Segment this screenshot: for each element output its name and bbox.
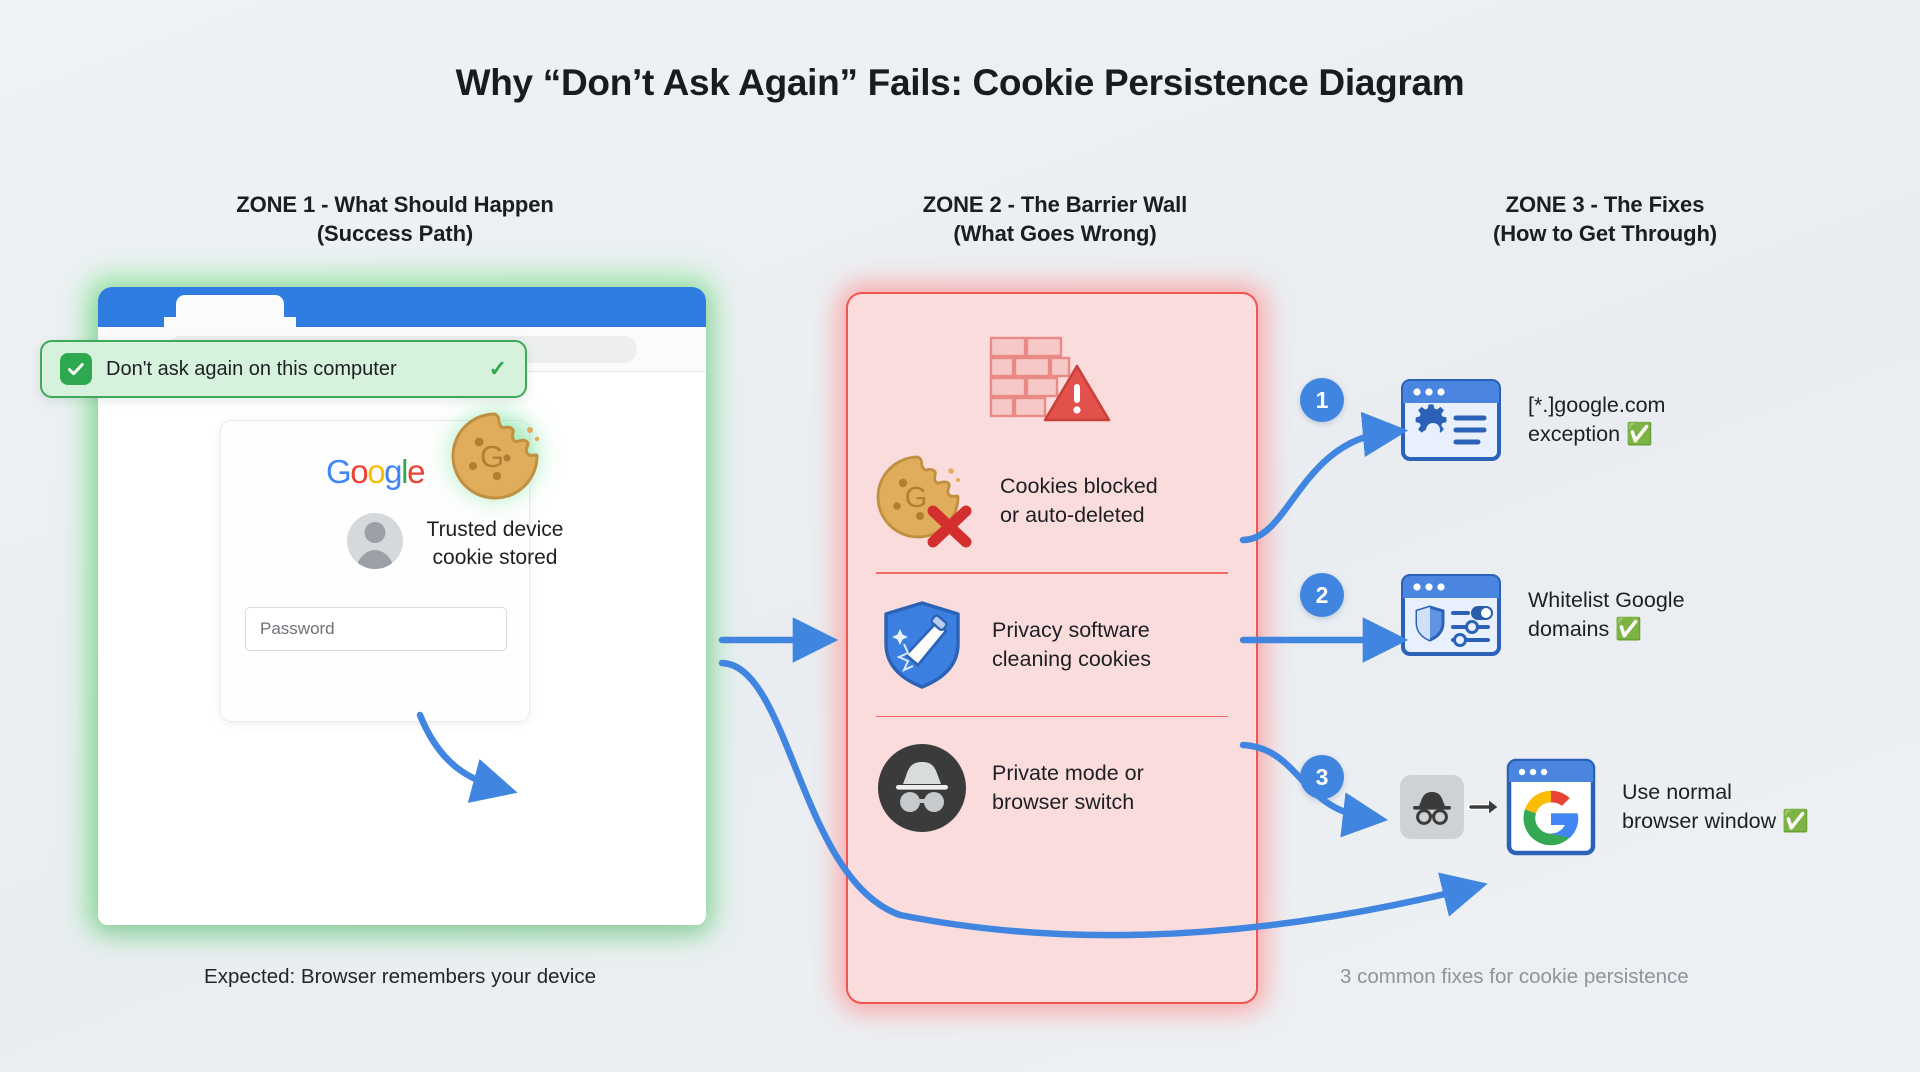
success-check-icon: ✅	[1626, 422, 1653, 446]
normal-browser-window-icon	[1506, 758, 1596, 856]
barrier-row-line1: Cookies blocked	[1000, 472, 1158, 501]
barrier-row: Private mode or browser switch	[848, 717, 1256, 859]
diagram-canvas: Why “Don’t Ask Again” Fails: Cookie Pers…	[0, 0, 1920, 1072]
green-check-icon: ✓	[489, 356, 507, 382]
zone2-barrier-panel: G Cookies blocked or auto-deleted	[846, 292, 1258, 1004]
fix-text: Use normal browser window ✅	[1622, 778, 1809, 836]
fix-number-badge: 1	[1300, 378, 1344, 422]
cookie-caption-line2: cookie stored	[400, 544, 590, 572]
fix-number-badge: 2	[1300, 573, 1344, 617]
success-check-icon: ✅	[1615, 617, 1642, 641]
zone2-heading-line2: (What Goes Wrong)	[840, 219, 1270, 248]
fix-text-line2: exception	[1528, 422, 1620, 446]
barrier-row-line2: cleaning cookies	[992, 645, 1151, 674]
avatar-head	[365, 522, 386, 543]
zone1-heading-line2: (Success Path)	[80, 219, 710, 248]
page-title: Why “Don’t Ask Again” Fails: Cookie Pers…	[0, 62, 1920, 104]
fix-text-line2: domains	[1528, 617, 1609, 641]
shield-broom-icon	[874, 597, 970, 693]
zone1-heading-line1: ZONE 1 - What Should Happen	[80, 190, 710, 219]
user-avatar-icon	[347, 513, 403, 569]
fix-item: Use normal browser window ✅	[1400, 758, 1809, 856]
zone2-heading: ZONE 2 - The Barrier Wall (What Goes Wro…	[840, 190, 1270, 248]
fix-text: Whitelist Google domains ✅	[1528, 586, 1685, 644]
fix-text-line2: browser window	[1622, 809, 1776, 833]
zone2-heading-line1: ZONE 2 - The Barrier Wall	[840, 190, 1270, 219]
zone3-caption: 3 common fixes for cookie persistence	[1340, 965, 1900, 989]
svg-text:G: G	[905, 482, 928, 514]
cookie-icon: G	[445, 410, 545, 502]
google-logo-letter: G	[326, 453, 350, 490]
fix-text-line1: [*.]google.com	[1528, 391, 1665, 420]
check-glyph	[66, 359, 86, 379]
svg-text:G: G	[480, 439, 504, 474]
barrier-row-line1: Privacy software	[992, 616, 1151, 645]
success-check-icon: ✅	[1782, 809, 1809, 833]
trusted-device-cookie-group: G Trusted device cookie stored	[400, 410, 590, 572]
barrier-row: G Cookies blocked or auto-deleted	[848, 430, 1256, 572]
barrier-row-line2: browser switch	[992, 788, 1144, 817]
zone3-heading-line1: ZONE 3 - The Fixes	[1390, 190, 1820, 219]
zone1-heading: ZONE 1 - What Should Happen (Success Pat…	[80, 190, 710, 248]
brick-wall-warning-icon	[987, 332, 1117, 424]
fix-item: Whitelist Google domains ✅	[1400, 573, 1685, 657]
google-logo-letter: g	[384, 453, 401, 490]
cookie-blocked-icon: G	[874, 453, 978, 549]
incognito-icon	[874, 740, 970, 836]
zone1-caption: Expected: Browser remembers your device	[86, 965, 714, 989]
incognito-mode-icon	[1400, 775, 1464, 839]
fix-number-badge: 3	[1300, 755, 1344, 799]
cookie-caption-line1: Trusted device	[400, 516, 590, 544]
fix-text-line1: Use normal	[1622, 778, 1809, 807]
avatar-body	[354, 550, 396, 569]
incognito-glyph	[1409, 789, 1455, 825]
zone3-heading-line2: (How to Get Through)	[1390, 219, 1820, 248]
cookie-caption: Trusted device cookie stored	[400, 516, 590, 572]
shield-settings-window-icon	[1400, 573, 1502, 657]
checked-checkbox-icon[interactable]	[60, 353, 92, 385]
dont-ask-again-checkbox-row[interactable]: Don't ask again on this computer ✓	[40, 340, 527, 398]
browser-tab[interactable]	[176, 295, 284, 329]
barrier-row-text: Private mode or browser switch	[992, 759, 1144, 817]
fix-text-line1: Whitelist Google	[1528, 586, 1685, 615]
fix-item: [*.]google.com exception ✅	[1400, 378, 1665, 462]
barrier-row-text: Privacy software cleaning cookies	[992, 616, 1151, 674]
transition-arrow-icon	[1468, 795, 1502, 819]
browser-titlebar	[98, 287, 706, 327]
google-logo-letter: o	[350, 453, 367, 490]
barrier-row: Privacy software cleaning cookies	[848, 574, 1256, 716]
barrier-row-line2: or auto-deleted	[1000, 501, 1158, 530]
dont-ask-again-label: Don't ask again on this computer	[106, 358, 397, 381]
settings-window-icon	[1400, 378, 1502, 462]
fix-text: [*.]google.com exception ✅	[1528, 391, 1665, 449]
password-placeholder: Password	[260, 619, 335, 639]
barrier-row-line1: Private mode or	[992, 759, 1144, 788]
zone3-heading: ZONE 3 - The Fixes (How to Get Through)	[1390, 190, 1820, 248]
password-field[interactable]: Password	[245, 607, 507, 651]
barrier-row-text: Cookies blocked or auto-deleted	[1000, 472, 1158, 530]
google-logo-letter: o	[367, 453, 384, 490]
